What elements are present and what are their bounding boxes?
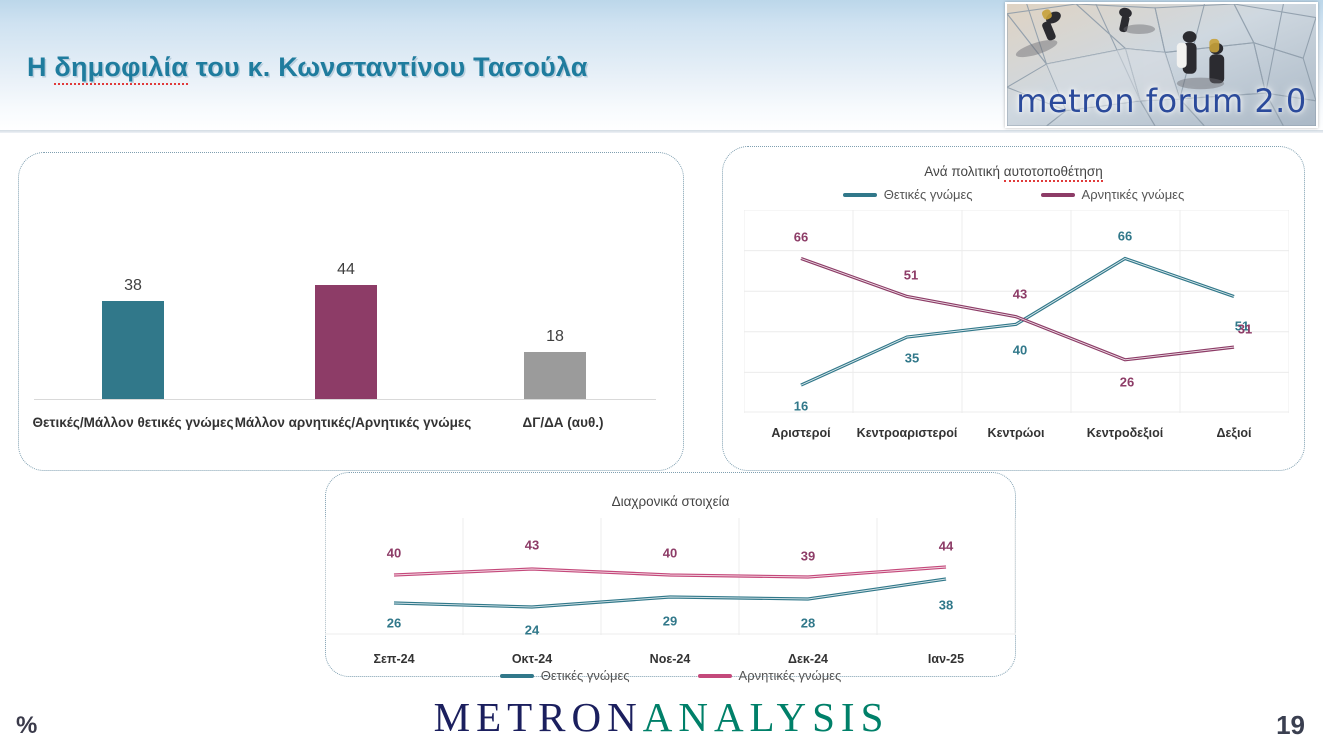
political-label-positive-1: 35: [905, 351, 919, 366]
bar-category-negative: Μάλλον αρνητικές/Αρνητικές γνώμες: [233, 415, 473, 430]
political-label-negative-1: 51: [904, 268, 918, 283]
over-time-label-positive-0: 26: [387, 616, 401, 631]
page-number: 19: [1276, 710, 1305, 741]
political-label-negative-2: 43: [1013, 287, 1027, 302]
bar-value-negative: 44: [315, 261, 377, 279]
political-chart-title-spellcheck-word: αυτοτοποθέτηση: [1004, 164, 1103, 182]
over-time-legend-label-negative: Αρνητικές γνώμες: [739, 668, 842, 683]
political-category-1: Κεντροαριστεροί: [857, 426, 958, 440]
metron-forum-logo: metron forum 2.0: [1005, 2, 1318, 128]
overall-bar-chart-plot: 38 44 18: [34, 258, 656, 400]
political-chart-legend: Θετικές γνώμες Αρνητικές γνώμες: [722, 187, 1305, 202]
over-time-category-3: Δεκ-24: [788, 652, 828, 666]
political-category-0: Αριστεροί: [771, 426, 830, 440]
over-time-line-negative: [394, 567, 946, 577]
forum-logo-text: metron forum 2.0: [1007, 82, 1316, 120]
page-title-suffix: του κ. Κωνσταντίνου Τασούλα: [188, 52, 588, 82]
over-time-chart-legend: Θετικές γνώμες Αρνητικές γνώμες: [325, 668, 1016, 683]
logo-analysis-text: ANALYSIS: [643, 694, 890, 740]
bar-rect-positive: [102, 301, 164, 399]
bar-rect-dk-na: [524, 352, 586, 399]
political-category-4: Δεξιοί: [1216, 426, 1251, 440]
bar-value-dk-na: 18: [524, 328, 586, 346]
over-time-chart-title: Διαχρονικά στοιχεία: [325, 494, 1016, 509]
political-label-positive-2: 40: [1013, 343, 1027, 358]
bar-value-positive: 38: [102, 277, 164, 295]
over-time-line-positive: [394, 579, 946, 607]
political-label-positive-3: 66: [1118, 229, 1132, 244]
over-time-label-positive-2: 29: [663, 614, 677, 629]
political-label-negative-3: 26: [1120, 375, 1134, 390]
over-time-legend-swatch-negative-icon: [698, 674, 732, 678]
over-time-label-negative-3: 39: [801, 549, 815, 564]
political-chart-plot-area: 16 35 40 66 51 66 51 43 26 31: [744, 210, 1289, 413]
over-time-legend-label-positive: Θετικές γνώμες: [541, 668, 630, 683]
political-chart-svg: [744, 210, 1289, 413]
over-time-label-negative-0: 40: [387, 546, 401, 561]
legend-swatch-negative-icon: [1041, 193, 1075, 197]
bar-rect-negative: [315, 285, 377, 399]
over-time-label-negative-2: 40: [663, 546, 677, 561]
over-time-line-positive-highlight: [394, 579, 946, 607]
over-time-category-4: Ιαν-25: [928, 652, 964, 666]
over-time-category-1: Οκτ-24: [512, 652, 552, 666]
over-time-legend-item-positive[interactable]: Θετικές γνώμες: [500, 668, 630, 683]
over-time-label-negative-1: 43: [525, 538, 539, 553]
bar-chart-category-axis: Θετικές/Μάλλον θετικές γνώμες Μάλλον αρν…: [18, 415, 668, 439]
header-divider: [0, 130, 1323, 133]
political-label-negative-0: 66: [794, 230, 808, 245]
political-chart-title: Ανά πολιτική αυτοτοποθέτηση: [722, 164, 1305, 179]
over-time-chart-plot-area: 40 43 40 39 44 26 24 29 28 38: [325, 518, 1016, 635]
bar-category-dk-na: ΔΓ/ΔΑ (αυθ.): [473, 415, 653, 430]
legend-item-positive[interactable]: Θετικές γνώμες: [843, 187, 973, 202]
logo-metron-text: METRON: [434, 694, 643, 740]
over-time-category-2: Νοε-24: [650, 652, 691, 666]
legend-label-negative: Αρνητικές γνώμες: [1082, 187, 1185, 202]
page-title-prefix: Η: [27, 52, 54, 82]
over-time-legend-swatch-positive-icon: [500, 674, 534, 678]
page-title: Η δημοφιλία του κ. Κωνσταντίνου Τασούλα: [27, 52, 588, 83]
metron-analysis-logo: METRONANALYSIS: [0, 693, 1323, 741]
over-time-category-0: Σεπ-24: [373, 652, 414, 666]
political-placement-chart: Ανά πολιτική αυτοτοποθέτηση Θετικές γνώμ…: [722, 146, 1305, 471]
political-chart-gridlines: [744, 210, 1289, 413]
legend-swatch-positive-icon: [843, 193, 877, 197]
over-time-label-positive-1: 24: [525, 623, 539, 638]
over-time-legend-item-negative[interactable]: Αρνητικές γνώμες: [698, 668, 842, 683]
page-title-spellcheck-word: δημοφιλία: [54, 52, 188, 85]
over-time-chart: Διαχρονικά στοιχεία: [325, 472, 1016, 687]
legend-item-negative[interactable]: Αρνητικές γνώμες: [1041, 187, 1185, 202]
political-chart-line-positive: [801, 259, 1234, 386]
slide-canvas: Η δημοφιλία του κ. Κωνσταντίνου Τασούλα: [0, 0, 1323, 750]
political-category-2: Κεντρώοι: [988, 426, 1045, 440]
bar-chart-baseline: [34, 399, 656, 400]
political-chart-title-prefix: Ανά πολιτική: [924, 164, 1004, 179]
political-label-negative-4: 31: [1238, 322, 1252, 337]
over-time-label-positive-3: 28: [801, 616, 815, 631]
legend-label-positive: Θετικές γνώμες: [884, 187, 973, 202]
over-time-label-negative-4: 44: [939, 539, 953, 554]
over-time-label-positive-4: 38: [939, 598, 953, 613]
political-category-3: Κεντροδεξιοί: [1087, 426, 1164, 440]
bar-category-positive: Θετικές/Μάλλον θετικές γνώμες: [18, 415, 248, 430]
political-label-positive-0: 16: [794, 399, 808, 414]
